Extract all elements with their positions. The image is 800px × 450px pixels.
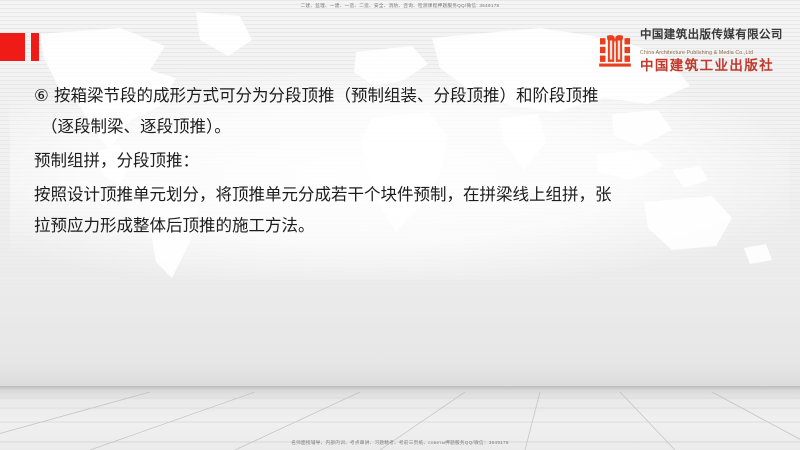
- slide-canvas: 二建、监理、一建、一造、二造、安全、消防、咨询、检测课程押题服务QQ/微信: 3…: [0, 0, 800, 450]
- bottom-watermark-text: 名师面授辅导、内部内训、考点串讲、习题精考、考前三页纸、советы押题服务QQ…: [0, 440, 800, 446]
- paragraph-1-line-2: （逐段制梁、逐段顶推）。: [34, 111, 774, 142]
- red-block-decor: [0, 33, 25, 61]
- paragraph-3-line-1: 按照设计顶推单元划分，将顶推单元分成若干个块件预制，在拼梁线上组拼，张: [34, 179, 774, 210]
- red-bar-decor: [31, 33, 39, 61]
- open-book-logo-icon: [596, 31, 634, 69]
- paragraph-1: ⑥ 按箱梁节段的成形方式可分为分段顶推（预制组装、分段顶推）和阶段顶推 （逐段制…: [34, 80, 774, 142]
- logo-press-calligraphy: 中国建筑工业出版社: [640, 58, 774, 74]
- paragraph-3-line-2: 拉预应力形成整体后顶推的施工方法。: [34, 210, 774, 241]
- publisher-logo: 中国建筑出版传媒有限公司 China Architecture Publishi…: [596, 26, 800, 74]
- logo-company-name-cn: 中国建筑出版传媒有限公司: [640, 29, 783, 41]
- logo-text-block: 中国建筑出版传媒有限公司 China Architecture Publishi…: [640, 26, 800, 74]
- slide-body-text: ⑥ 按箱梁节段的成形方式可分为分段顶推（预制组装、分段顶推）和阶段顶推 （逐段制…: [34, 80, 774, 241]
- paragraph-3: 按照设计顶推单元划分，将顶推单元分成若干个块件预制，在拼梁线上组拼，张 拉预应力…: [34, 179, 774, 241]
- logo-company-name-en: China Architecture Publishing & Media Co…: [640, 50, 753, 56]
- top-watermark-text: 二建、监理、一建、一造、二造、安全、消防、咨询、检测课程押题服务QQ/微信: 3…: [0, 3, 800, 9]
- paragraph-2: 预制组拼，分段顶推：: [34, 145, 774, 176]
- paragraph-2-line-1: 预制组拼，分段顶推：: [34, 145, 774, 176]
- paragraph-1-line-1: ⑥ 按箱梁节段的成形方式可分为分段顶推（预制组装、分段顶推）和阶段顶推: [34, 80, 774, 111]
